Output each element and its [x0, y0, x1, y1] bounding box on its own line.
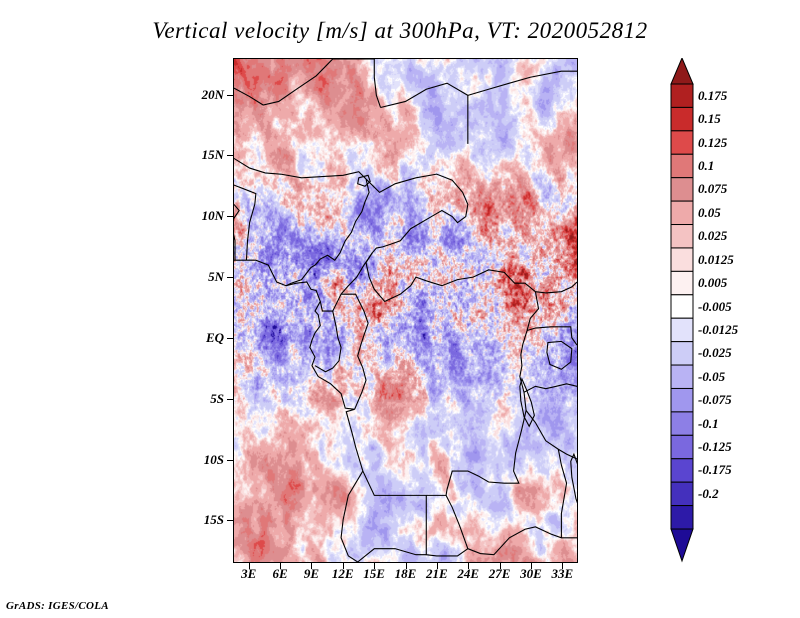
y-axis-label: 5N: [208, 269, 224, 285]
footer-credit: GrADS: IGES/COLA: [6, 600, 109, 612]
x-axis-tick-mark: [468, 563, 469, 569]
y-axis-tick-mark: [227, 216, 233, 217]
colorbar-tick-label: 0.175: [698, 88, 727, 104]
x-axis-tick-mark: [500, 563, 501, 569]
y-axis-label: 10N: [202, 208, 224, 224]
page-title: Vertical velocity [m/s] at 300hPa, VT: 2…: [0, 18, 800, 44]
colorbar-tick-label: -0.0125: [698, 322, 738, 338]
colorbar-band: [671, 178, 693, 201]
y-axis-label: 5S: [210, 391, 224, 407]
colorbar-tick-label: -0.075: [698, 392, 732, 408]
colorbar-tick-label: -0.05: [698, 369, 725, 385]
x-axis-tick-mark: [249, 563, 250, 569]
vertical-velocity-field: [234, 59, 577, 562]
colorbar-band: [671, 225, 693, 248]
colorbar-bands: [668, 58, 798, 563]
colorbar-under-arrow: [671, 529, 693, 561]
colorbar-band: [671, 435, 693, 458]
y-axis-tick-mark: [227, 277, 233, 278]
colorbar-tick-label: -0.125: [698, 439, 732, 455]
x-axis-tick-mark: [311, 563, 312, 569]
y-axis-tick-mark: [227, 399, 233, 400]
colorbar-tick-label: -0.025: [698, 345, 732, 361]
y-axis-tick-mark: [227, 460, 233, 461]
x-axis-tick-mark: [280, 563, 281, 569]
y-axis-tick-mark: [227, 338, 233, 339]
colorbar-band: [671, 201, 693, 224]
colorbar-band: [671, 365, 693, 388]
colorbar-tick-label: 0.1: [698, 158, 714, 174]
colorbar-band: [671, 482, 693, 505]
y-axis-label: 20N: [202, 87, 224, 103]
colorbar-band: [671, 271, 693, 294]
colorbar-band: [671, 154, 693, 177]
y-axis-label: 15N: [202, 147, 224, 163]
colorbar-band: [671, 295, 693, 318]
colorbar-band: [671, 131, 693, 154]
y-axis-label: EQ: [206, 330, 224, 346]
x-axis-tick-mark: [562, 563, 563, 569]
colorbar-band: [671, 459, 693, 482]
x-axis-tick-mark: [343, 563, 344, 569]
colorbar-tick-label: 0.025: [698, 228, 727, 244]
x-axis-tick-mark: [374, 563, 375, 569]
colorbar-band: [671, 84, 693, 107]
colorbar-over-arrow: [671, 58, 693, 84]
colorbar-band: [671, 248, 693, 271]
y-axis-tick-mark: [227, 95, 233, 96]
colorbar-band: [671, 342, 693, 365]
colorbar-tick-label: 0.05: [698, 205, 721, 221]
x-axis-tick-mark: [406, 563, 407, 569]
y-axis-label: 10S: [204, 452, 224, 468]
colorbar-band: [671, 388, 693, 411]
colorbar-tick-label: 0.15: [698, 111, 721, 127]
colorbar-band: [671, 107, 693, 130]
colorbar-tick-label: -0.005: [698, 299, 732, 315]
y-axis-tick-mark: [227, 520, 233, 521]
colorbar-tick-label: 0.075: [698, 181, 727, 197]
colorbar-band: [671, 506, 693, 529]
colorbar-tick-label: -0.1: [698, 416, 719, 432]
x-axis-tick-mark: [437, 563, 438, 569]
colorbar-tick-label: -0.2: [698, 486, 719, 502]
x-axis-tick-mark: [531, 563, 532, 569]
y-axis-tick-mark: [227, 155, 233, 156]
y-axis-label: 15S: [204, 512, 224, 528]
colorbar: 0.1750.150.1250.10.0750.050.0250.01250.0…: [668, 58, 798, 563]
colorbar-band: [671, 412, 693, 435]
colorbar-tick-label: 0.125: [698, 135, 727, 151]
colorbar-band: [671, 318, 693, 341]
colorbar-tick-label: 0.0125: [698, 252, 734, 268]
colorbar-tick-label: 0.005: [698, 275, 727, 291]
colorbar-tick-label: -0.175: [698, 462, 732, 478]
map-plot-area: [233, 58, 578, 563]
